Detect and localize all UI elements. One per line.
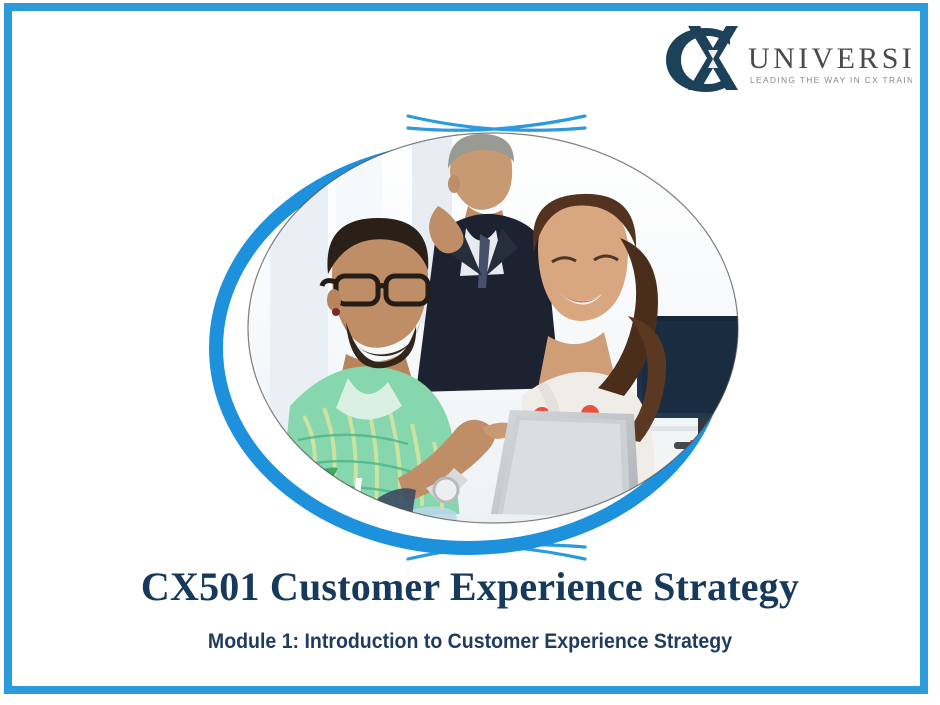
logo-tagline: LEADING THE WAY IN CX TRAINING	[750, 75, 912, 85]
accent-cross-top	[408, 116, 585, 130]
cx-university-logo: UNIVERSITY LEADING THE WAY IN CX TRAININ…	[660, 20, 912, 98]
page-title: CX501 Customer Experience Strategy	[0, 565, 940, 608]
title-slide: UNIVERSITY LEADING THE WAY IN CX TRAININ…	[0, 0, 940, 705]
photo-desk-glasses-icon	[694, 475, 744, 489]
logo-wordmark: UNIVERSITY	[748, 42, 912, 75]
logo-monogram-icon	[666, 26, 738, 92]
photo-content	[248, 133, 810, 565]
page-subtitle: Module 1: Introduction to Customer Exper…	[33, 629, 907, 654]
photo-plant	[754, 368, 810, 424]
photo-mug	[648, 504, 686, 555]
title-block: CX501 Customer Experience Strategy Modul…	[0, 565, 940, 654]
hero-oval-photo	[150, 110, 810, 565]
